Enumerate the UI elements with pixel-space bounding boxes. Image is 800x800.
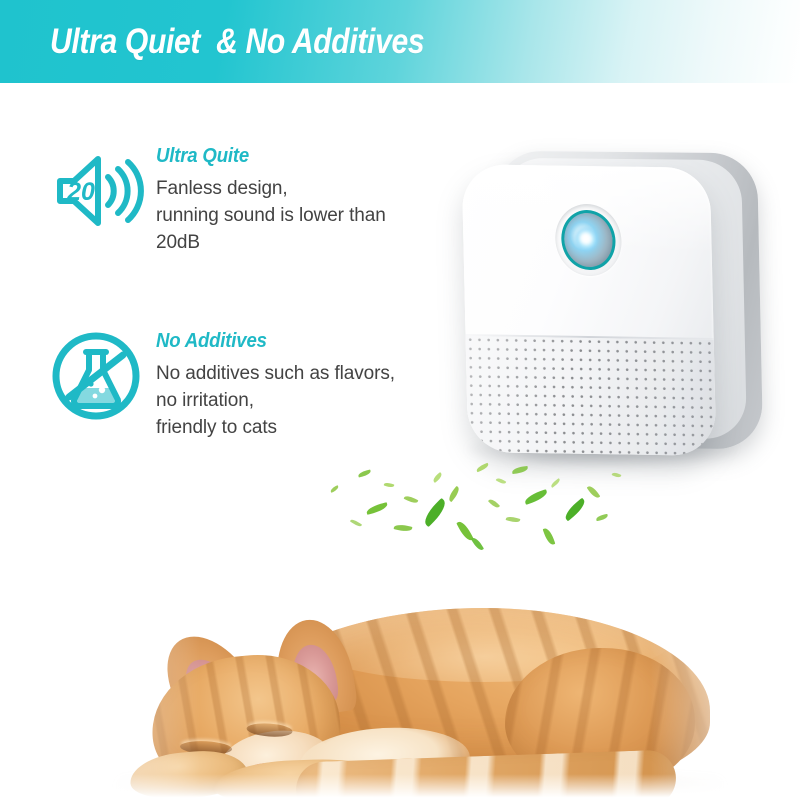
leaf <box>562 498 588 522</box>
feature-no-additives: No Additives No additives such as flavor… <box>48 328 395 441</box>
sleeping-cat-photo <box>0 560 800 800</box>
speaker-db-badge: 20 <box>66 178 95 206</box>
leaf <box>330 485 340 493</box>
leaf <box>587 484 601 500</box>
no-additives-flask-icon <box>48 328 144 424</box>
leaf <box>365 502 388 515</box>
device-indicator-button[interactable] <box>551 201 626 279</box>
device-vent-shading <box>466 336 717 456</box>
feature-heading: No Additives <box>156 330 378 353</box>
floating-leaves-graphic <box>300 445 640 565</box>
leaf <box>506 515 521 524</box>
leaf <box>596 514 609 521</box>
device-front-face <box>462 164 717 456</box>
product-image-air-purifier <box>440 140 770 470</box>
feature-text-block: No Additives No additives such as flavor… <box>144 328 395 441</box>
leaf <box>488 498 500 510</box>
indicator-ring <box>558 208 619 273</box>
leaf <box>476 463 490 473</box>
feature-description: No additives such as flavors, no irritat… <box>156 360 395 441</box>
feature-description: Fanless design, running sound is lower t… <box>156 175 386 256</box>
leaf <box>358 470 372 478</box>
leaf <box>394 523 413 533</box>
leaf <box>384 482 395 489</box>
speaker-volume-icon: 20 <box>48 143 144 239</box>
leaf <box>550 478 561 488</box>
feature-text-block: Ultra Quite Fanless design, running soun… <box>144 143 386 256</box>
leaf <box>496 477 507 485</box>
leaf <box>404 494 419 505</box>
leaf <box>612 471 622 478</box>
leaf <box>421 498 450 527</box>
leaf <box>543 527 556 546</box>
leaf <box>512 466 529 474</box>
feature-heading: Ultra Quite <box>156 145 370 168</box>
device-vent-grille <box>466 336 717 456</box>
feature-ultra-quiet: 20 Ultra Quite Fanless design, running s… <box>48 143 386 256</box>
leaf <box>523 489 548 505</box>
leaf <box>447 486 462 502</box>
leaf <box>432 472 444 483</box>
leaf <box>471 536 484 552</box>
header-banner: Ultra Quiet & No Additives <box>0 0 800 83</box>
page-title: Ultra Quiet & No Additives <box>50 22 424 62</box>
leaf <box>350 518 362 528</box>
